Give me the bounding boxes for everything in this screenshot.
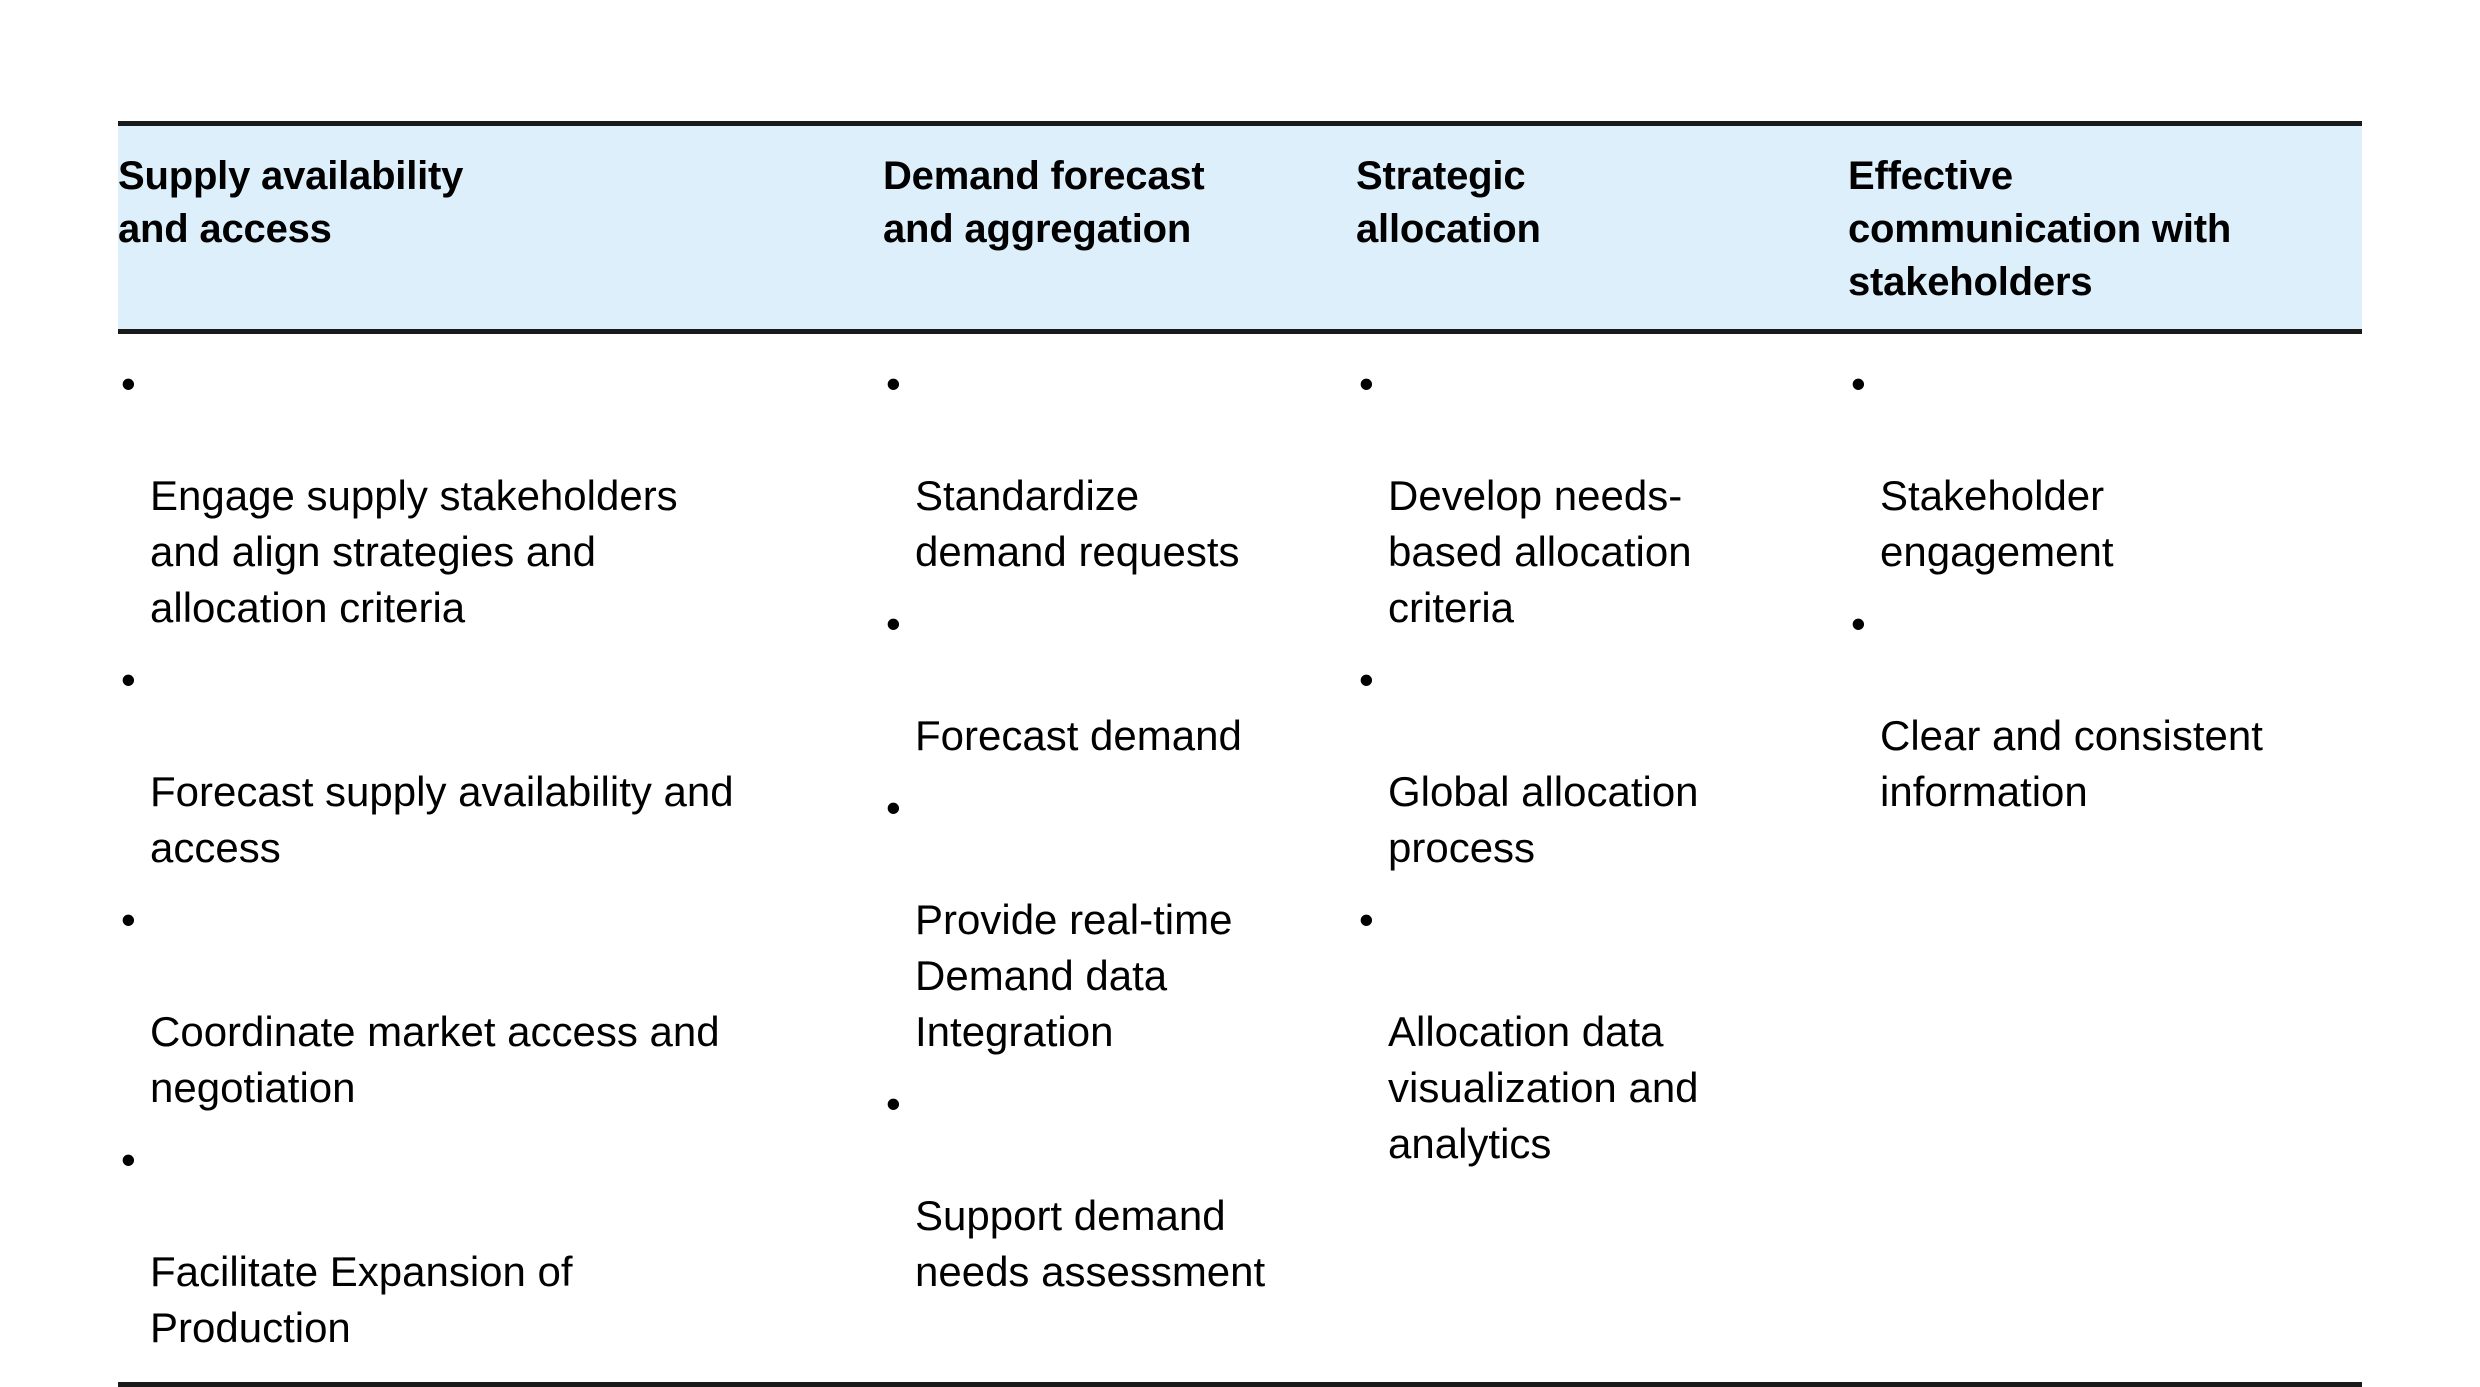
- table-header-cell-3: Effective communication with stakeholder…: [1848, 126, 2362, 329]
- bullet-list-1: • Standardize demand requests • Forecast…: [883, 356, 1330, 1300]
- list-item: • Engage supply stakeholders and align s…: [118, 356, 857, 636]
- list-item-label: Standardize demand requests: [915, 472, 1240, 575]
- list-item-label: Provide real-time Demand data Integratio…: [915, 896, 1232, 1055]
- list-item-label: Engage supply stakeholders and align str…: [150, 472, 678, 631]
- bullet-icon: •: [1359, 892, 1374, 948]
- bullet-icon: •: [121, 1132, 136, 1188]
- list-item-label: Forecast supply availability and access: [150, 768, 734, 871]
- list-item: • Allocation data visualization and anal…: [1356, 892, 1822, 1172]
- bullet-icon: •: [1359, 652, 1374, 708]
- bullet-icon: •: [1851, 356, 1866, 412]
- column-header-title: Supply availability and access: [118, 150, 853, 256]
- bullet-icon: •: [886, 356, 901, 412]
- bullet-icon: •: [1359, 356, 1374, 412]
- list-item-label: Clear and consistent information: [1880, 712, 2263, 815]
- bullet-icon: •: [121, 652, 136, 708]
- list-item-label: Support demand needs assessment: [915, 1192, 1265, 1295]
- list-item: • Global allocation process: [1356, 652, 1822, 876]
- list-item: • Coordinate market access and negotiati…: [118, 892, 857, 1116]
- bullet-list-0: • Engage supply stakeholders and align s…: [118, 356, 857, 1356]
- table-body-cell-2: • Develop needs- based allocation criter…: [1356, 334, 1848, 1382]
- table-header-cell-0: Supply availability and access: [118, 126, 883, 329]
- table-header-row: Supply availability and access Demand fo…: [118, 121, 2362, 334]
- list-item-label: Stakeholder engagement: [1880, 472, 2114, 575]
- bullet-list-3: • Stakeholder engagement • Clear and con…: [1848, 356, 2336, 820]
- list-item: • Develop needs- based allocation criter…: [1356, 356, 1822, 636]
- bullet-icon: •: [886, 596, 901, 652]
- bullet-icon: •: [886, 780, 901, 836]
- list-item: • Facilitate Expansion of Production: [118, 1132, 857, 1356]
- list-item: • Forecast demand: [883, 596, 1330, 764]
- table-header-cell-1: Demand forecast and aggregation: [883, 126, 1356, 329]
- table-body-row: • Engage supply stakeholders and align s…: [118, 334, 2362, 1387]
- bullet-icon: •: [121, 356, 136, 412]
- list-item-label: Develop needs- based allocation criteria: [1388, 472, 1692, 631]
- list-item: • Standardize demand requests: [883, 356, 1330, 580]
- list-item: • Stakeholder engagement: [1848, 356, 2336, 580]
- list-item-label: Global allocation process: [1388, 768, 1699, 871]
- table-header-cell-2: Strategic allocation: [1356, 126, 1848, 329]
- bullet-icon: •: [1851, 596, 1866, 652]
- list-item: • Forecast supply availability and acces…: [118, 652, 857, 876]
- list-item-label: Forecast demand: [915, 712, 1242, 759]
- column-header-title: Strategic allocation: [1356, 150, 1818, 256]
- list-item-label: Allocation data visualization and analyt…: [1388, 1008, 1699, 1167]
- bullet-icon: •: [886, 1076, 901, 1132]
- list-item-label: Coordinate market access and negotiation: [150, 1008, 720, 1111]
- list-item-label: Facilitate Expansion of Production: [150, 1248, 573, 1351]
- table-body-cell-1: • Standardize demand requests • Forecast…: [883, 334, 1356, 1382]
- bullet-list-2: • Develop needs- based allocation criter…: [1356, 356, 1822, 1172]
- list-item: • Support demand needs assessment: [883, 1076, 1330, 1300]
- column-header-title: Effective communication with stakeholder…: [1848, 150, 2332, 309]
- bullet-icon: •: [121, 892, 136, 948]
- column-header-title: Demand forecast and aggregation: [883, 150, 1326, 256]
- allocation-framework-table: Supply availability and access Demand fo…: [118, 121, 2362, 1387]
- table-body-cell-0: • Engage supply stakeholders and align s…: [118, 334, 883, 1382]
- list-item: • Provide real-time Demand data Integrat…: [883, 780, 1330, 1060]
- list-item: • Clear and consistent information: [1848, 596, 2336, 820]
- table-body-cell-3: • Stakeholder engagement • Clear and con…: [1848, 334, 2362, 1382]
